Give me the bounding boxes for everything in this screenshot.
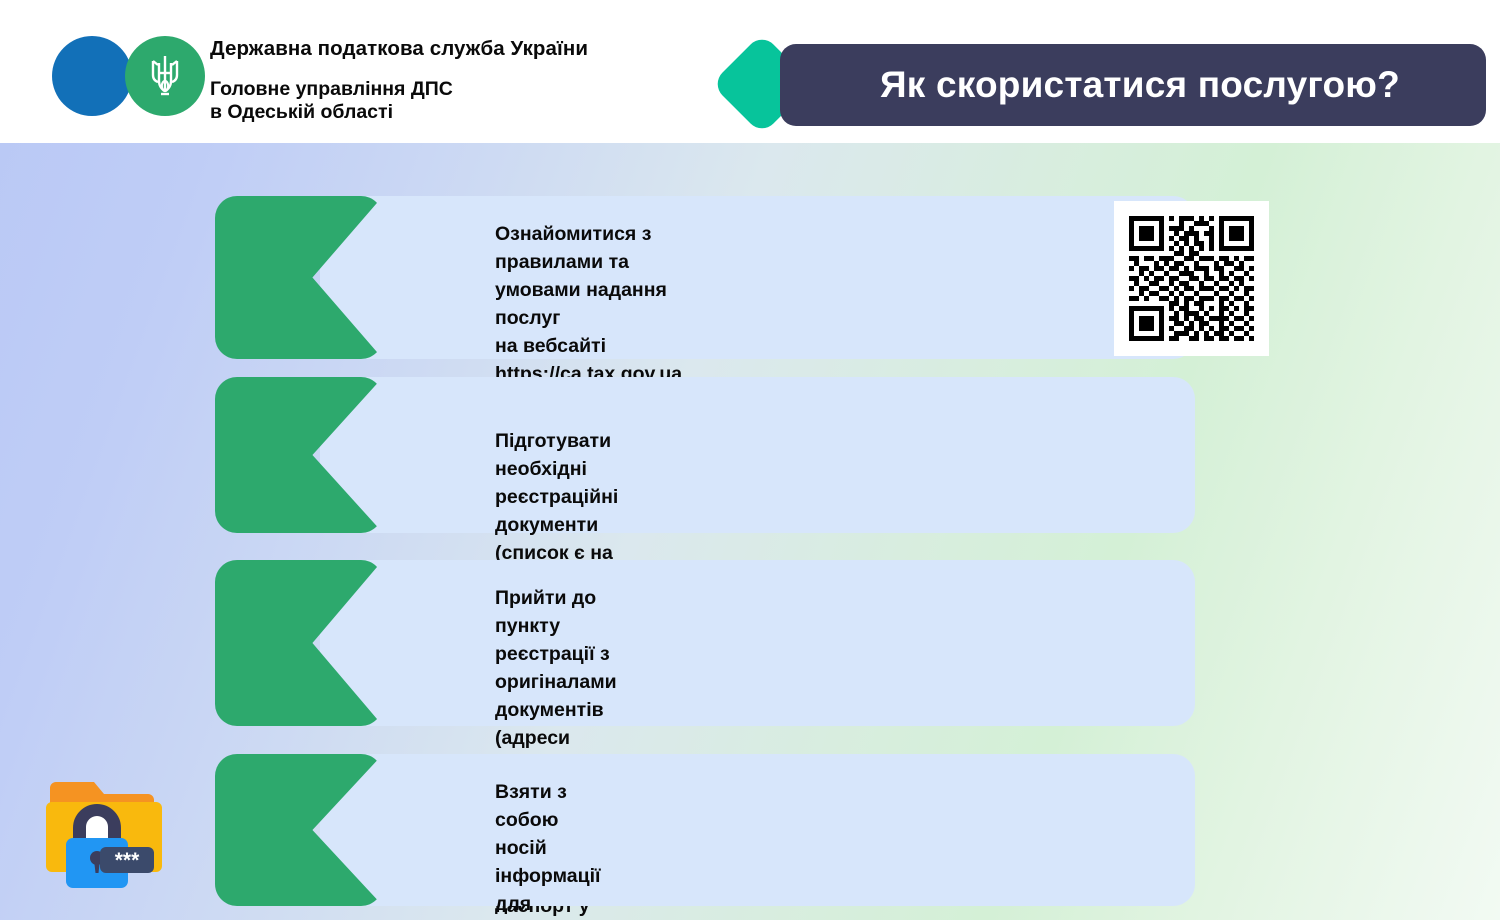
title-banner: Як скористатися послугою? <box>726 38 1486 136</box>
qr-code-icon <box>1129 216 1254 341</box>
step-panel-4 <box>320 754 1195 906</box>
step-1-text-before-link: Ознайомитися з правилами та умовами нада… <box>495 223 667 357</box>
poster-root: Державна податкова служба України Головн… <box>0 0 1500 920</box>
step-text-4: Взяти з собою носій інформації для збере… <box>495 778 609 920</box>
tryzub-icon <box>147 51 183 101</box>
step-panel-3 <box>320 560 1195 726</box>
step-panel-1 <box>320 196 1195 359</box>
lock-shackle-inner <box>86 816 108 839</box>
step-panel-2 <box>320 377 1195 533</box>
title-bar: Як скористатися послугою? <box>780 44 1486 126</box>
locked-folder-icon: *** <box>38 762 183 907</box>
logo-blue-circle-icon <box>52 36 132 116</box>
organization-block: Державна податкова служба України Головн… <box>210 36 588 124</box>
organization-unit-line1: Головне управління ДПС <box>210 78 588 101</box>
logo <box>52 36 202 116</box>
qr-code-card[interactable] <box>1114 201 1269 356</box>
page-title: Як скористатися послугою? <box>880 64 1400 106</box>
organization-unit-line2: в Одеській області <box>210 101 588 124</box>
organization-unit: Головне управління ДПС в Одеській област… <box>210 78 588 124</box>
password-mask: *** <box>115 849 140 872</box>
organization-name: Державна податкова служба України <box>210 36 588 62</box>
logo-green-circle-icon <box>125 36 205 116</box>
